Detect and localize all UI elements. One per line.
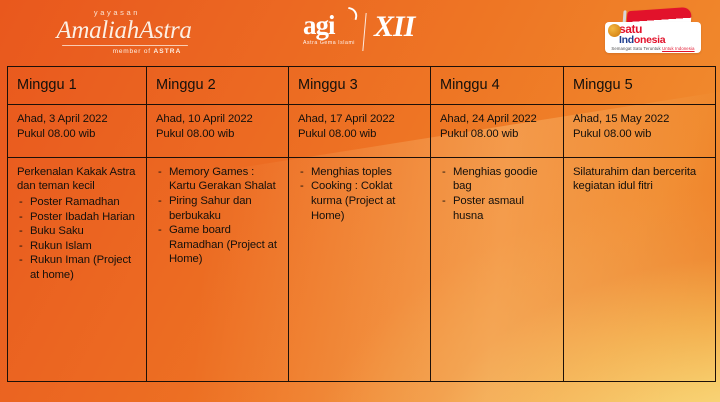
date-day-week-1: Ahad, 3 April 2022 xyxy=(17,112,138,127)
indonesia-text-part1: Ind xyxy=(619,34,634,46)
date-day-week-3: Ahad, 17 April 2022 xyxy=(298,112,422,127)
table-date-row: Ahad, 3 April 2022 Pukul 08.00 wib Ahad,… xyxy=(8,105,716,158)
date-time-week-1: Pukul 08.00 wib xyxy=(17,127,138,142)
list-item: Poster Ramadhan xyxy=(17,195,138,210)
yayasan-label: yayasan xyxy=(20,8,214,17)
satu-indonesia-tagline: Semangat Satu Teruntuk Untuk Indonesia xyxy=(605,46,701,51)
agi-text: agi xyxy=(303,10,335,40)
indonesia-text: Indonesia xyxy=(605,35,701,45)
list-item: Rukun Islam xyxy=(17,239,138,254)
date-day-week-4: Ahad, 24 April 2022 xyxy=(440,112,555,127)
date-time-week-5: Pukul 08.00 wib xyxy=(573,127,707,142)
activity-list-week-3: Menghias toples Cooking : Coklat kurma (… xyxy=(298,165,422,223)
activity-cell-week-1: Perkenalan Kakak Astra dan teman kecil P… xyxy=(8,157,147,381)
table-header-cell-week-4: Minggu 4 xyxy=(431,67,564,105)
wordmark-underline xyxy=(62,45,188,46)
schedule-table: Minggu 1 Minggu 2 Minggu 3 Minggu 4 Ming… xyxy=(7,66,716,382)
list-item: Memory Games : Kartu Gerakan Shalat xyxy=(156,165,280,194)
satu-indonesia-logo: satu Indonesia Semangat Satu Teruntuk Un… xyxy=(605,9,701,57)
week-4-title: Minggu 4 xyxy=(440,77,555,94)
activity-cell-week-2: Memory Games : Kartu Gerakan Shalat Piri… xyxy=(147,157,289,381)
astra-brand: ASTRA xyxy=(153,48,181,55)
logo-divider xyxy=(362,13,366,51)
list-item: Poster asmaul husna xyxy=(440,194,555,223)
swoosh-icon xyxy=(346,7,359,20)
activity-cell-week-5: Silaturahim dan bercerita kegiatan idul … xyxy=(564,157,716,381)
week-1-title: Minggu 1 xyxy=(17,77,138,94)
week-5-title: Minggu 5 xyxy=(573,77,707,94)
indonesia-text-part2: onesia xyxy=(634,34,665,46)
table-header-cell-week-5: Minggu 5 xyxy=(564,67,716,105)
list-item: Rukun Iman (Project at home) xyxy=(17,253,138,282)
table-header-cell-week-3: Minggu 3 xyxy=(289,67,431,105)
week-3-title: Minggu 3 xyxy=(298,77,422,94)
slide-canvas: yayasan AmaliahAstra member of ASTRA agi… xyxy=(0,0,720,402)
activity-list-week-1: Poster Ramadhan Poster Ibadah Harian Buk… xyxy=(17,195,138,283)
date-cell-week-5: Ahad, 15 May 2022 Pukul 08.00 wib xyxy=(564,105,716,158)
agi-xii-logo: agi Astra Gema Islami XII xyxy=(303,12,414,58)
roman-numeral-xii: XII xyxy=(374,11,414,43)
list-item: Cooking : Coklat kurma (Project at Home) xyxy=(298,179,422,223)
list-item: Game board Ramadhan (Project at Home) xyxy=(156,223,280,267)
activity-intro-week-1: Perkenalan Kakak Astra dan teman kecil xyxy=(17,165,138,194)
satu-indonesia-badge: satu Indonesia Semangat Satu Teruntuk Un… xyxy=(605,22,701,53)
table-activity-row: Perkenalan Kakak Astra dan teman kecil P… xyxy=(8,157,716,381)
agi-block: agi Astra Gema Islami xyxy=(303,12,355,46)
table-header-row: Minggu 1 Minggu 2 Minggu 3 Minggu 4 Ming… xyxy=(8,67,716,105)
header-logo-band: yayasan AmaliahAstra member of ASTRA agi… xyxy=(0,0,720,66)
activity-cell-week-4: Menghias goodie bag Poster asmaul husna xyxy=(431,157,564,381)
date-day-week-5: Ahad, 15 May 2022 xyxy=(573,112,707,127)
agi-subtitle: Astra Gema Islami xyxy=(303,40,355,46)
activity-cell-week-3: Menghias toples Cooking : Coklat kurma (… xyxy=(289,157,431,381)
table-header-cell-week-2: Minggu 2 xyxy=(147,67,289,105)
date-cell-week-2: Ahad, 10 April 2022 Pukul 08.00 wib xyxy=(147,105,289,158)
list-item: Piring Sahur dan berbukaku xyxy=(156,194,280,223)
list-item: Menghias goodie bag xyxy=(440,165,555,194)
award-seal-icon xyxy=(608,24,621,37)
member-prefix: member of xyxy=(113,48,154,55)
date-day-week-2: Ahad, 10 April 2022 xyxy=(156,112,280,127)
list-item: Buku Saku xyxy=(17,224,138,239)
activity-list-week-4: Menghias goodie bag Poster asmaul husna xyxy=(440,165,555,223)
list-item: Poster Ibadah Harian xyxy=(17,210,138,225)
table-header-cell-week-1: Minggu 1 xyxy=(8,67,147,105)
list-item: Menghias toples xyxy=(298,165,422,180)
date-cell-week-3: Ahad, 17 April 2022 Pukul 08.00 wib xyxy=(289,105,431,158)
week-2-title: Minggu 2 xyxy=(156,77,280,94)
activity-text-week-5: Silaturahim dan bercerita kegiatan idul … xyxy=(573,165,707,194)
schedule-table-container: Minggu 1 Minggu 2 Minggu 3 Minggu 4 Ming… xyxy=(7,66,715,382)
tagline-highlight: Untuk Indonesia xyxy=(662,46,695,51)
amaliah-astra-wordmark: AmaliahAstra xyxy=(34,17,214,44)
date-cell-week-1: Ahad, 3 April 2022 Pukul 08.00 wib xyxy=(8,105,147,158)
date-cell-week-4: Ahad, 24 April 2022 Pukul 08.00 wib xyxy=(431,105,564,158)
member-of-astra-label: member of ASTRA xyxy=(80,48,214,55)
date-time-week-3: Pukul 08.00 wib xyxy=(298,127,422,142)
tagline-plain: Semangat Satu Teruntuk xyxy=(611,46,662,51)
yayasan-amaliah-astra-logo: yayasan AmaliahAstra member of ASTRA xyxy=(34,8,214,60)
activity-list-week-2: Memory Games : Kartu Gerakan Shalat Piri… xyxy=(156,165,280,267)
date-time-week-2: Pukul 08.00 wib xyxy=(156,127,280,142)
date-time-week-4: Pukul 08.00 wib xyxy=(440,127,555,142)
agi-wordmark: agi xyxy=(303,12,355,38)
